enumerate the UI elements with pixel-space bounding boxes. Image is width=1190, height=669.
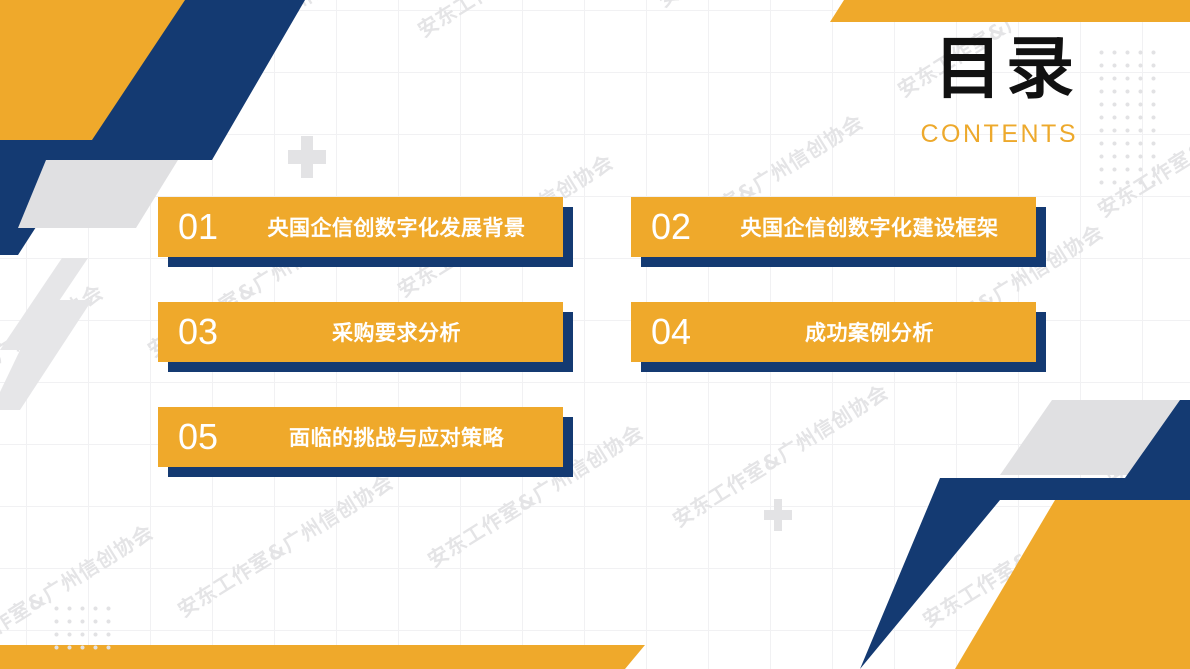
bottom-right-orange-parallelogram-group xyxy=(955,500,1190,669)
item-label: 央国企信创数字化建设框架 xyxy=(717,212,1036,242)
top-right-orange-bar-group xyxy=(818,0,1190,22)
item-number: 03 xyxy=(158,314,244,350)
contents-item-01[interactable]: 01 央国企信创数字化发展背景 xyxy=(158,197,563,257)
page-title: 目录 xyxy=(921,36,1079,104)
page-subtitle: CONTENTS xyxy=(921,120,1079,149)
contents-row: 03 采购要求分析 04 成功案例分析 xyxy=(158,302,1048,362)
top-left-gray-parallelogram xyxy=(18,160,178,228)
card[interactable]: 03 采购要求分析 xyxy=(158,302,563,362)
left-gray-stripe-lower xyxy=(0,300,92,410)
contents-item-04[interactable]: 04 成功案例分析 xyxy=(631,302,1036,362)
contents-row: 05 面临的挑战与应对策略 xyxy=(158,407,1048,467)
dot-grid-top-right xyxy=(1093,44,1159,189)
item-number: 02 xyxy=(631,209,717,245)
top-right-orange-bar-svg xyxy=(818,0,1190,22)
contents-item-05[interactable]: 05 面临的挑战与应对策略 xyxy=(158,407,563,467)
bottom-right-orange-parallelogram xyxy=(955,500,1190,669)
contents-row: 01 央国企信创数字化发展背景 02 央国企信创数字化建设框架 xyxy=(158,197,1048,257)
contents-item-02[interactable]: 02 央国企信创数字化建设框架 xyxy=(631,197,1036,257)
item-label: 采购要求分析 xyxy=(244,317,563,347)
item-number: 05 xyxy=(158,419,244,455)
left-gray-stripe-lower-svg xyxy=(0,300,110,430)
item-label: 央国企信创数字化发展背景 xyxy=(244,212,563,242)
item-number: 04 xyxy=(631,314,717,350)
top-right-orange-bar xyxy=(830,0,1190,22)
plus-mark-icon xyxy=(764,499,792,531)
card[interactable]: 05 面临的挑战与应对策略 xyxy=(158,407,563,467)
card[interactable]: 02 央国企信创数字化建设框架 xyxy=(631,197,1036,257)
contents-item-placeholder xyxy=(631,407,1036,467)
contents-list: 01 央国企信创数字化发展背景 02 央国企信创数字化建设框架 03 采购要求分… xyxy=(158,197,1048,467)
contents-item-03[interactable]: 03 采购要求分析 xyxy=(158,302,563,362)
page-title-block: 目录 CONTENTS xyxy=(921,36,1079,149)
item-number: 01 xyxy=(158,209,244,245)
plus-mark-icon xyxy=(288,136,326,178)
slide-canvas: 安东工作室&广州信创协会 安东工作室&广州信创协会 安东工作室&广州信创协会 安… xyxy=(0,0,1190,669)
bottom-right-orange-parallelogram-svg xyxy=(955,500,1190,669)
card[interactable]: 04 成功案例分析 xyxy=(631,302,1036,362)
item-label: 成功案例分析 xyxy=(717,317,1036,347)
left-gray-stripe-lower-group xyxy=(0,300,110,430)
dot-grid-bottom-left xyxy=(48,600,114,655)
card[interactable]: 01 央国企信创数字化发展背景 xyxy=(158,197,563,257)
item-label: 面临的挑战与应对策略 xyxy=(244,422,563,452)
